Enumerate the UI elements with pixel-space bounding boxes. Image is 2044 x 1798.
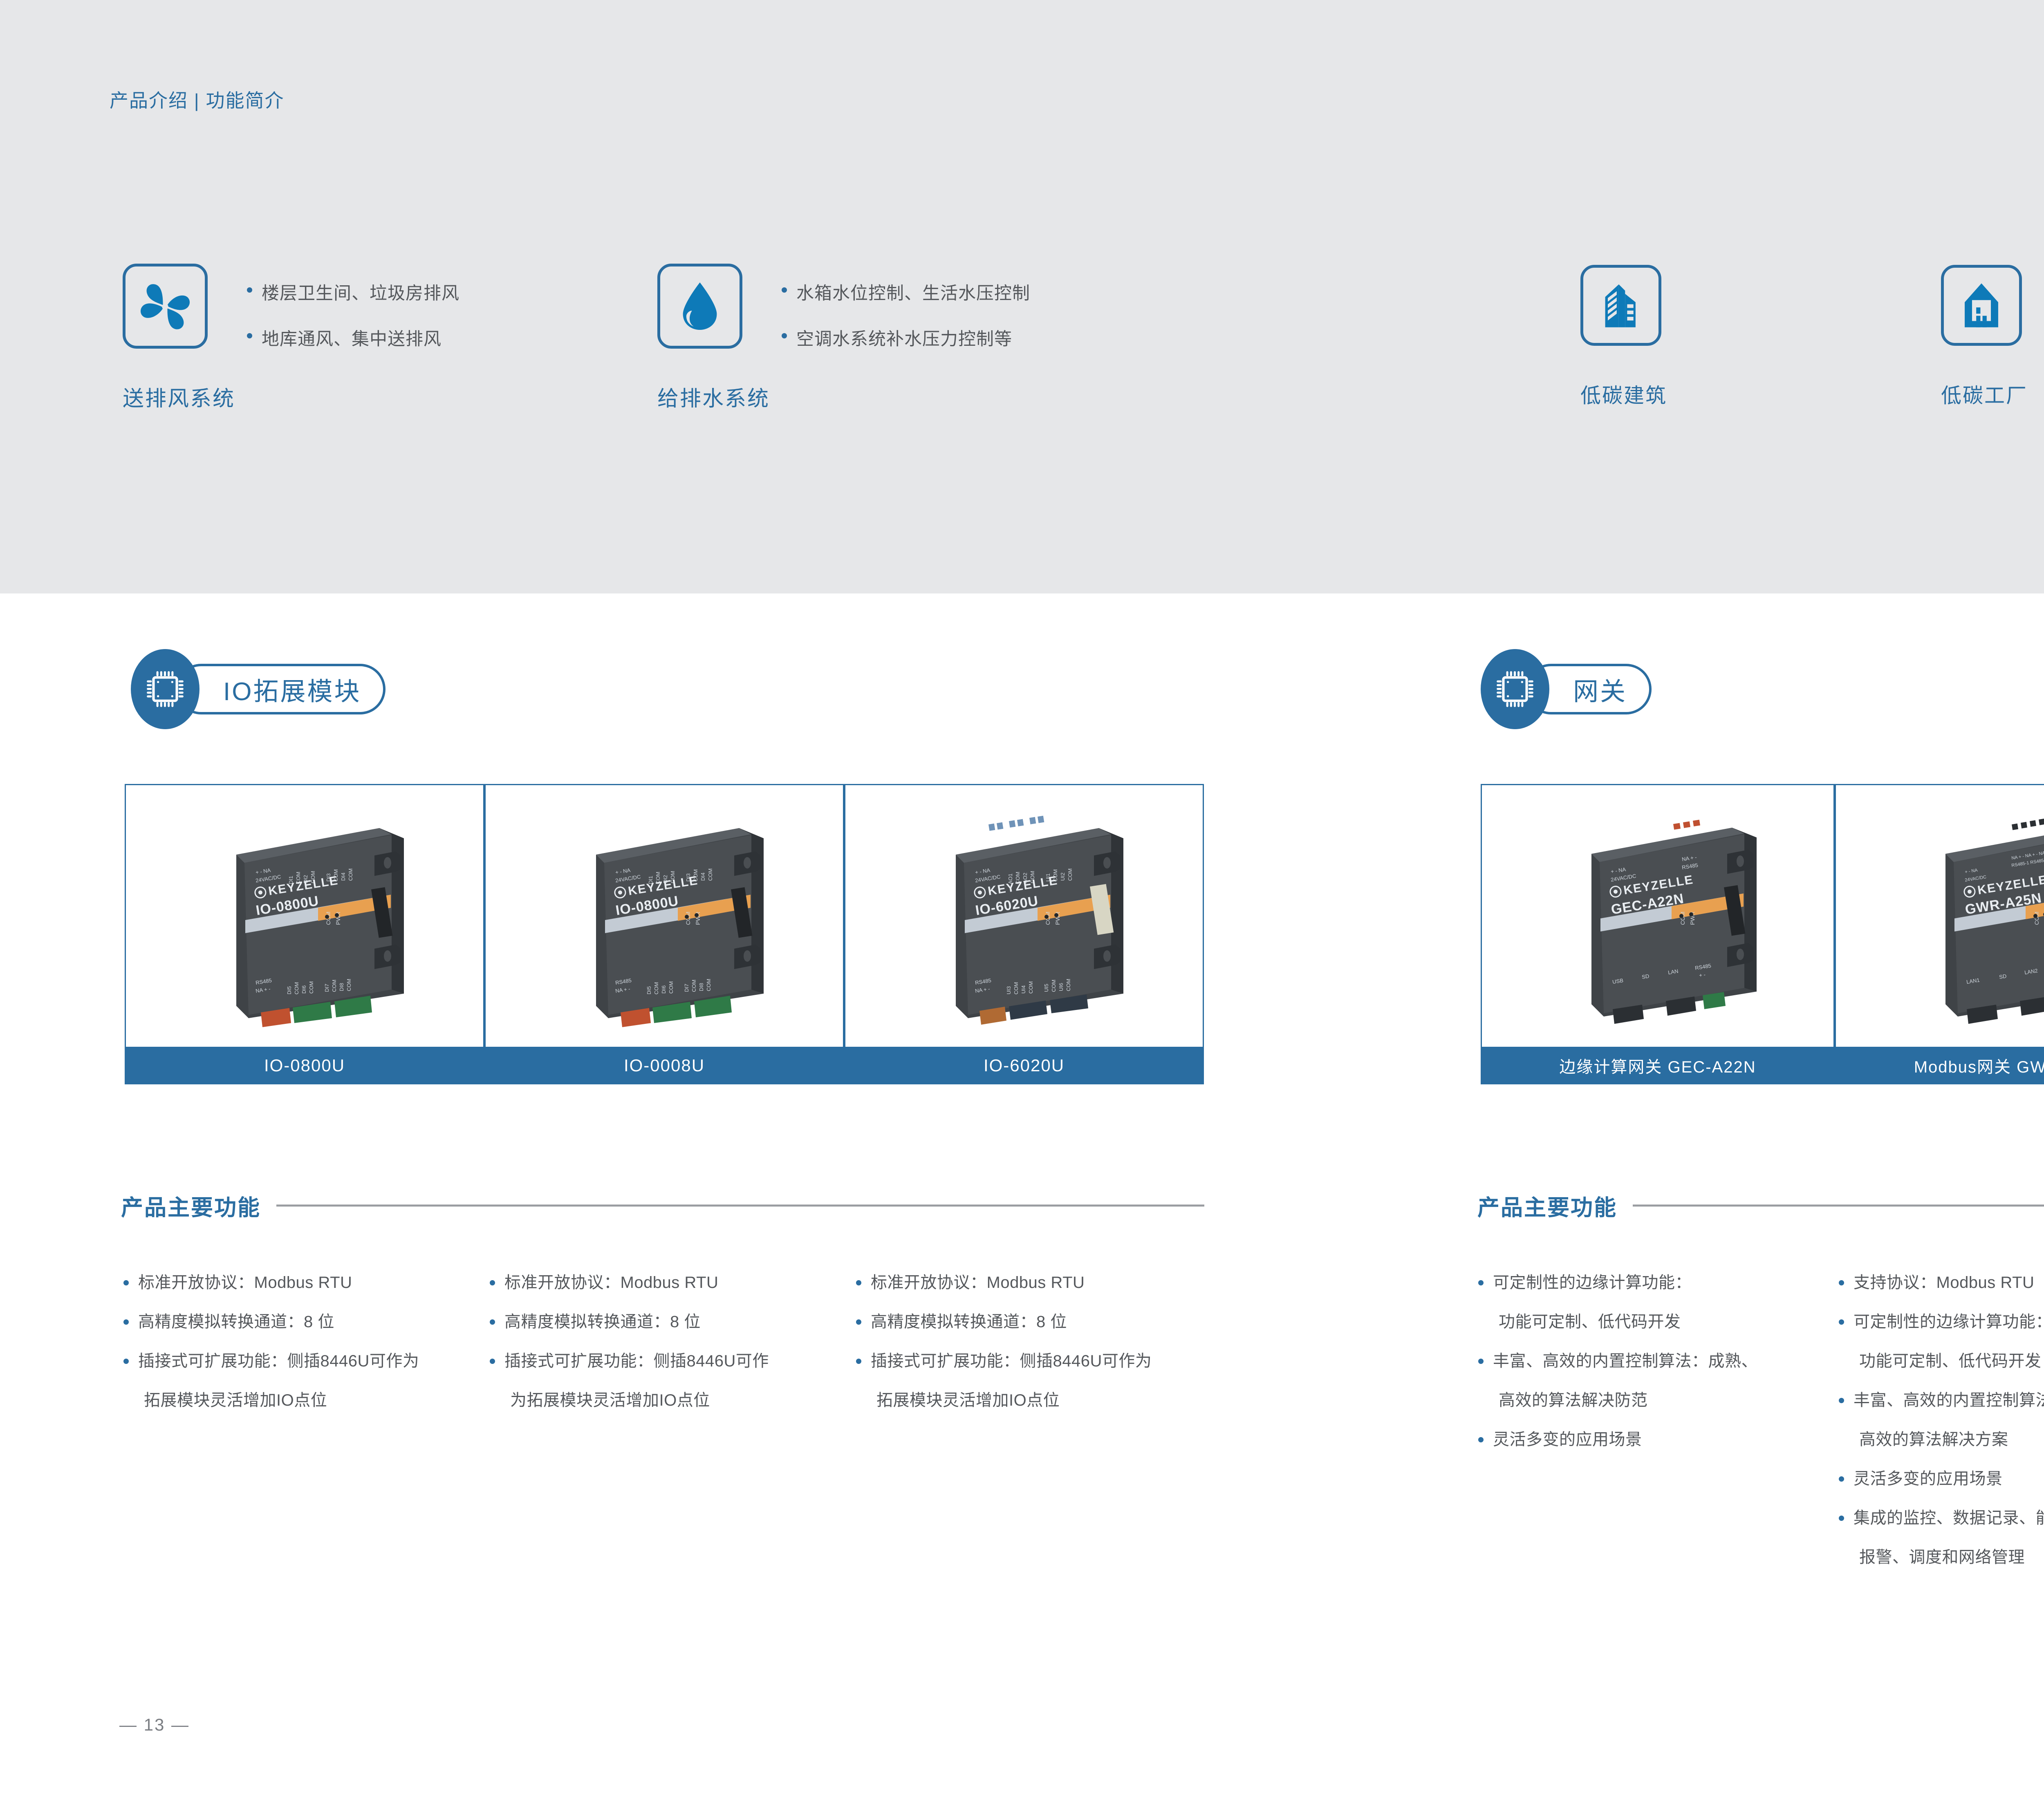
feature-text: 可定制性的边缘计算功能： — [1493, 1274, 1692, 1292]
device-gec-a22n: + - NA 24VAC/DC NA + - RS485 USB SD LAN … — [1482, 785, 1835, 1047]
product-label: Modbus网关 GWR-A25N — [1914, 1054, 2044, 1077]
svg-text:COM: COM — [347, 869, 354, 881]
svg-text:DI6: DI6 — [301, 985, 307, 994]
device-gwr-a25n: + - NA 24VAC/DC NA + - NA + - NA + - RS4… — [1836, 785, 2044, 1047]
svg-text:COM: COM — [294, 982, 300, 994]
feature-text: 支持协议：Modbus RTU — [1853, 1274, 2034, 1292]
water-drop-icon — [672, 278, 728, 334]
section-badge-label: 网关 — [1573, 671, 1627, 708]
feature-item: 高精度模拟转换通道：8 位 — [489, 1302, 849, 1341]
product-card-io-0800u[interactable]: + - NA 24VAC/DC DI1 COM DI2 COM DI3 COM … — [125, 784, 484, 1084]
bullet-item: 地库通风、集中送排风 — [245, 325, 459, 350]
product-card-io-6020u[interactable]: + - NA 24VAC/DC AO1 COM AO2 COM UI1 COM … — [844, 784, 1204, 1084]
svg-text:COM: COM — [653, 982, 659, 994]
feature-text-cont: 功能可定制、低代码开发 — [1853, 1341, 2044, 1381]
svg-text:UI3: UI3 — [1006, 986, 1012, 994]
svg-text:DI4: DI4 — [700, 873, 706, 881]
feature-text-cont: 高效的算法解决防范 — [1493, 1381, 1829, 1420]
chip-icon-circle — [1481, 649, 1549, 729]
section-pill: IO拓展模块 — [176, 664, 385, 714]
feature-item: 可定制性的边缘计算功能： 功能可定制、低代码开发 — [1838, 1302, 2044, 1381]
feature-item: 高精度模拟转换通道：8 位 — [123, 1302, 482, 1341]
office-building-icon-box — [1580, 265, 1661, 346]
function-heading-io: 产品主要功能 — [121, 1189, 1204, 1222]
svg-text:COM: COM — [346, 979, 352, 991]
product-photo: + - NA 24VAC/DC AO1 COM AO2 COM UI1 COM … — [844, 784, 1204, 1047]
svg-text:DI4: DI4 — [340, 873, 346, 881]
feature-text: 高精度模拟转换通道：8 位 — [871, 1313, 1067, 1331]
feature-text: 高精度模拟转换通道：8 位 — [138, 1313, 334, 1331]
scenario-caption: 给排水系统 — [657, 381, 770, 412]
device-io-6020u: + - NA 24VAC/DC AO1 COM AO2 COM UI1 COM … — [845, 785, 1204, 1047]
svg-text:COM: COM — [668, 981, 674, 994]
function-heading-title: 产品主要功能 — [1477, 1189, 1617, 1222]
feature-list: 标准开放协议：Modbus RTU 高精度模拟转换通道：8 位 插接式可扩展功能… — [855, 1263, 1215, 1420]
feature-text: 灵活多变的应用场景 — [1493, 1431, 1642, 1449]
svg-text:DI8: DI8 — [338, 983, 345, 991]
svg-text:SD: SD — [1999, 973, 2007, 980]
lowcarbon-caption: 低碳建筑 — [1580, 379, 1667, 409]
feature-list: 标准开放协议：Modbus RTU 高精度模拟转换通道：8 位 插接式可扩展功能… — [123, 1263, 482, 1420]
feature-text: 可定制性的边缘计算功能： — [1853, 1313, 2044, 1331]
feature-item: 插接式可扩展功能：侧插8446U可作为 拓展模块灵活增加IO点位 — [123, 1341, 482, 1420]
svg-text:DI5: DI5 — [646, 986, 652, 994]
feature-column-io-1: 标准开放协议：Modbus RTU 高精度模拟转换通道：8 位 插接式可扩展功能… — [123, 1263, 482, 1420]
feature-item: 标准开放协议：Modbus RTU — [855, 1263, 1215, 1302]
scenario-bullets: 楼层卫生间、垃圾房排风 地库通风、集中送排风 — [245, 279, 459, 371]
product-label: IO-0008U — [624, 1056, 705, 1075]
product-label: IO-0800U — [264, 1056, 345, 1075]
lowcarbon-caption: 低碳工厂 — [1941, 379, 2028, 409]
feature-column-io-2: 标准开放协议：Modbus RTU 高精度模拟转换通道：8 位 插接式可扩展功能… — [489, 1263, 849, 1420]
feature-item: 插接式可扩展功能：侧插8446U可作为 拓展模块灵活增加IO点位 — [855, 1341, 1215, 1420]
section-badge-io: IO拓展模块 — [131, 649, 385, 729]
product-photo: + - NA 24VAC/DC DI1 COM DI2 COM DI3 COM … — [484, 784, 844, 1047]
svg-text:COM: COM — [1013, 982, 1019, 994]
svg-text:DI8: DI8 — [698, 983, 704, 991]
feature-item: 支持协议：Modbus RTU — [1838, 1263, 2044, 1302]
feature-text: 标准开放协议：Modbus RTU — [138, 1274, 352, 1292]
svg-text:COM: COM — [1028, 981, 1034, 994]
water-drop-icon-box — [657, 264, 742, 349]
feature-text: 丰富、高效的内置控制算法：成熟、 — [1853, 1391, 2044, 1409]
device-io-0800u: + - NA 24VAC/DC DI1 COM DI2 COM DI3 COM … — [126, 785, 484, 1047]
product-label-bar: 边缘计算网关 GEC-A22N — [1481, 1047, 1835, 1084]
product-label: 边缘计算网关 GEC-A22N — [1559, 1054, 1756, 1077]
feature-column-gw-1: 可定制性的边缘计算功能： 功能可定制、低代码开发 丰富、高效的内置控制算法：成熟… — [1477, 1263, 1829, 1459]
feature-column-io-3: 标准开放协议：Modbus RTU 高精度模拟转换通道：8 位 插接式可扩展功能… — [855, 1263, 1215, 1420]
feature-item: 插接式可扩展功能：侧插8446U可作 为拓展模块灵活增加IO点位 — [489, 1341, 849, 1420]
feature-text: 灵活多变的应用场景 — [1853, 1470, 2003, 1488]
feature-text-cont: 高效的算法解决方案 — [1853, 1420, 2044, 1459]
svg-text:COM: COM — [1065, 979, 1071, 991]
svg-text:COM: COM — [707, 869, 713, 881]
product-label: IO-6020U — [984, 1056, 1065, 1075]
feature-text: 高精度模拟转换通道：8 位 — [504, 1313, 701, 1331]
lowcarbon-factory: 低碳工厂 — [1941, 265, 2028, 409]
product-label-bar: IO-0008U — [484, 1047, 844, 1084]
scenario-bullets: 水箱水位控制、生活水压控制 空调水系统补水压力控制等 — [780, 279, 1030, 371]
chip-icon-circle — [131, 649, 199, 729]
feature-text-cont: 报警、调度和网络管理 — [1853, 1538, 2044, 1577]
office-building-icon — [1595, 279, 1647, 331]
product-photo: + - NA 24VAC/DC NA + - RS485 USB SD LAN … — [1481, 784, 1835, 1047]
feature-text-cont: 为拓展模块灵活增加IO点位 — [504, 1381, 849, 1420]
svg-text:COM: COM — [691, 980, 697, 992]
svg-text:UI5: UI5 — [1043, 984, 1049, 992]
product-card-io-0008u[interactable]: + - NA 24VAC/DC DI1 COM DI2 COM DI3 COM … — [484, 784, 844, 1084]
svg-text:+ -: + - — [1699, 972, 1706, 978]
product-label-bar: Modbus网关 GWR-A25N — [1835, 1047, 2044, 1084]
feature-list: 支持协议：Modbus RTU 可定制性的边缘计算功能： 功能可定制、低代码开发… — [1838, 1263, 2044, 1577]
heading-rule — [276, 1205, 1204, 1207]
feature-text: 标准开放协议：Modbus RTU — [504, 1274, 718, 1292]
feature-item: 灵活多变的应用场景 — [1477, 1420, 1829, 1459]
svg-text:SD: SD — [1641, 973, 1650, 980]
feature-item: 集成的监控、数据记录、能耗计量、 报警、调度和网络管理 — [1838, 1498, 2044, 1577]
chip-icon — [1494, 668, 1536, 710]
chip-icon — [144, 668, 186, 710]
scenario-ventilation: 送排风系统 楼层卫生间、垃圾房排风 地库通风、集中送排风 — [123, 264, 235, 412]
function-heading-gateway: 产品主要功能 — [1477, 1189, 2044, 1222]
feature-text: 丰富、高效的内置控制算法：成熟、 — [1493, 1352, 1758, 1370]
factory-icon-box — [1941, 265, 2022, 346]
feature-text-cont: 功能可定制、低代码开发 — [1493, 1302, 1829, 1341]
section-badge-label: IO拓展模块 — [223, 671, 361, 708]
feature-item: 标准开放协议：Modbus RTU — [489, 1263, 849, 1302]
fan-icon — [137, 278, 193, 334]
svg-text:DI7: DI7 — [324, 984, 330, 992]
svg-text:COM: COM — [308, 981, 314, 994]
feature-text: 插接式可扩展功能：侧插8446U可作 — [504, 1352, 769, 1370]
product-photo: + - NA 24VAC/DC NA + - NA + - NA + - RS4… — [1835, 784, 2044, 1047]
feature-item: 可定制性的边缘计算功能： 功能可定制、低代码开发 — [1477, 1263, 1829, 1341]
feature-item: 标准开放协议：Modbus RTU — [123, 1263, 482, 1302]
svg-text:COM: COM — [706, 979, 712, 991]
bullet-item: 楼层卫生间、垃圾房排风 — [245, 279, 459, 305]
factory-icon — [1955, 279, 2008, 331]
svg-text:COM: COM — [331, 980, 337, 992]
function-heading-title: 产品主要功能 — [121, 1189, 261, 1222]
feature-list: 标准开放协议：Modbus RTU 高精度模拟转换通道：8 位 插接式可扩展功能… — [489, 1263, 849, 1420]
heading-rule — [1633, 1205, 2044, 1207]
lowcarbon-building: 低碳建筑 — [1580, 265, 1667, 409]
feature-text-cont: 拓展模块灵活增加IO点位 — [871, 1381, 1215, 1420]
svg-text:UI6: UI6 — [1058, 983, 1064, 991]
svg-text:UI2: UI2 — [1060, 873, 1066, 881]
svg-text:COM: COM — [2033, 911, 2040, 925]
brochure-spread: 产品介绍 | 功能简介 产品介绍 | 功能简介 送排风系统 楼层卫生间、垃圾房排… — [0, 0, 2044, 1798]
scenario-water-supply: 给排水系统 水箱水位控制、生活水压控制 空调水系统补水压力控制等 — [657, 264, 770, 412]
product-photo: + - NA 24VAC/DC DI1 COM DI2 COM DI3 COM … — [125, 784, 484, 1047]
svg-text:COM: COM — [1679, 911, 1686, 925]
section-badge-gateway: 网关 — [1481, 649, 1652, 729]
scenario-caption: 送排风系统 — [123, 381, 235, 412]
feature-item: 灵活多变的应用场景 — [1838, 1459, 2044, 1498]
bullet-item: 空调水系统补水压力控制等 — [780, 325, 1030, 350]
page-number-left: — 13 — — [119, 1715, 190, 1735]
product-label-bar: IO-6020U — [844, 1047, 1204, 1084]
svg-text:UI4: UI4 — [1020, 985, 1026, 994]
feature-list: 可定制性的边缘计算功能： 功能可定制、低代码开发 丰富、高效的内置控制算法：成熟… — [1477, 1263, 1829, 1459]
product-label-bar: IO-0800U — [125, 1047, 484, 1084]
svg-text:DI6: DI6 — [661, 985, 667, 994]
feature-text: 集成的监控、数据记录、能耗计量、 — [1853, 1509, 2044, 1527]
device-io-0008u: + - NA 24VAC/DC DI1 COM DI2 COM DI3 COM … — [486, 785, 844, 1047]
svg-text:COM: COM — [1067, 869, 1073, 881]
feature-text-cont: 拓展模块灵活增加IO点位 — [138, 1381, 482, 1420]
product-card-gec-a22n[interactable]: + - NA 24VAC/DC NA + - RS485 USB SD LAN … — [1481, 784, 1835, 1084]
bullet-item: 水箱水位控制、生活水压控制 — [780, 279, 1030, 305]
fan-icon-box — [123, 264, 208, 349]
feature-text: 标准开放协议：Modbus RTU — [871, 1274, 1085, 1292]
feature-item: 丰富、高效的内置控制算法：成熟、 高效的算法解决方案 — [1838, 1381, 2044, 1459]
feature-text: 插接式可扩展功能：侧插8446U可作为 — [871, 1352, 1152, 1370]
feature-column-gw-2: 支持协议：Modbus RTU 可定制性的边缘计算功能： 功能可定制、低代码开发… — [1838, 1263, 2044, 1577]
feature-text: 插接式可扩展功能：侧插8446U可作为 — [138, 1352, 419, 1370]
svg-text:DI7: DI7 — [684, 984, 690, 992]
feature-item: 丰富、高效的内置控制算法：成熟、 高效的算法解决防范 — [1477, 1341, 1829, 1420]
running-head-left: 产品介绍 | 功能简介 — [110, 86, 285, 113]
feature-item: 高精度模拟转换通道：8 位 — [855, 1302, 1215, 1341]
product-card-gwr-a25n[interactable]: + - NA 24VAC/DC NA + - NA + - NA + - RS4… — [1835, 784, 2044, 1084]
svg-text:COM: COM — [1051, 980, 1057, 992]
svg-text:DI5: DI5 — [286, 986, 292, 994]
